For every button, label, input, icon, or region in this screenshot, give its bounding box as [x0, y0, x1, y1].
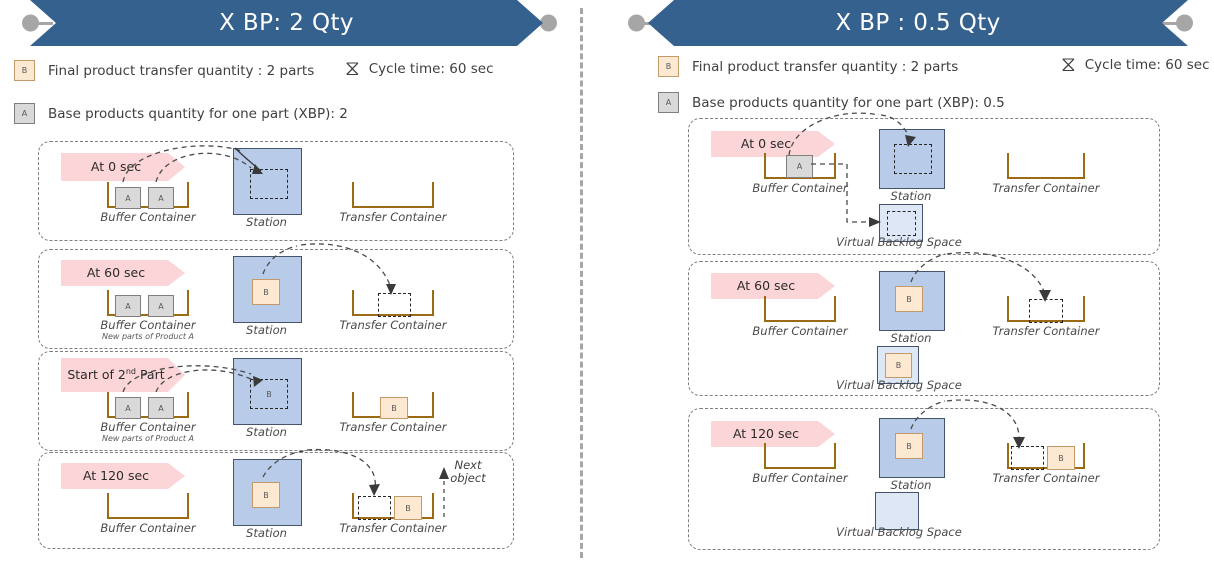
right-step-1-station: B — [879, 271, 945, 331]
part-b-chip-icon: B — [14, 60, 35, 81]
left-step-2-station-ghost-slot: B — [250, 379, 288, 409]
left-step-2-station-caption: Station — [229, 425, 304, 439]
right-step-0-buffer-caption: Buffer Container — [739, 181, 861, 195]
left-step-2-buffer-container: A A — [107, 392, 189, 418]
left-step-0-transfer-container — [352, 182, 434, 208]
left-step-0-station — [233, 148, 302, 215]
hourglass-icon: ⧖ — [345, 58, 360, 79]
left-step-3-transfer-container: B — [352, 493, 434, 519]
left-banner-wrap: X BP: 2 Qty — [0, 0, 580, 46]
left-step-3-station-part: B — [252, 482, 280, 508]
right-step-0-transfer-caption: Transfer Container — [982, 181, 1110, 195]
right-step-1-transfer-caption: Transfer Container — [982, 324, 1110, 338]
left-step-1-station: B — [233, 256, 302, 323]
left-step-3-buffer-caption: Buffer Container — [87, 521, 209, 535]
left-step-2-buffer-caption: Buffer Container — [87, 420, 209, 434]
right-legend-text-0: Final product transfer quantity : 2 part… — [692, 59, 958, 75]
left-step-3-transfer-part-0: B — [394, 496, 422, 520]
left-step-0-transfer-caption: Transfer Container — [329, 210, 457, 224]
right-step-card-0: At 0 sec A Buffer Container Station Virt… — [688, 118, 1160, 255]
left-step-1-buffer-container: A A — [107, 290, 189, 316]
left-step-0-buffer-part-0: A — [115, 187, 141, 209]
right-step-1-station-part: B — [895, 286, 923, 312]
right-step-0-buffer-part-0: A — [786, 155, 813, 178]
left-step-0-buffer-container: A A — [107, 182, 189, 208]
right-banner-left-knob — [628, 15, 645, 32]
left-step-card-0: At 0 sec A A Buffer Container Station Tr… — [38, 141, 514, 241]
left-step-3-time-label: At 120 sec — [61, 463, 185, 489]
right-step-2-transfer-part-0: B — [1047, 446, 1075, 470]
left-legend-text-1: Base products quantity for one part (XBP… — [48, 106, 348, 122]
left-step-2-buffer-subcaption: New parts of Product A — [87, 434, 209, 443]
right-step-0-backlog-caption: Virtual Backlog Space — [829, 235, 969, 249]
left-step-1-buffer-subcaption: New parts of Product A — [87, 332, 209, 341]
right-step-card-1: At 60 sec Buffer Container B Station B V… — [688, 261, 1160, 396]
right-cycle-time-text: Cycle time: 60 sec — [1085, 57, 1210, 73]
left-step-3-transfer-caption: Transfer Container — [329, 521, 457, 535]
left-step-0-station-ghost-slot — [250, 169, 288, 199]
right-legend-item-1: A Base products quantity for one part (X… — [658, 92, 1005, 113]
left-step-card-2: Start of 2nd Part A A Buffer Container N… — [38, 351, 514, 451]
right-cycle-time: ⧖ Cycle time: 60 sec — [1061, 54, 1210, 75]
left-step-0-time-label: At 0 sec — [61, 153, 185, 181]
right-step-2-transfer-caption: Transfer Container — [982, 471, 1110, 485]
left-step-1-station-caption: Station — [229, 323, 304, 337]
right-step-card-2: At 120 sec Buffer Container B Station Vi… — [688, 408, 1160, 550]
left-step-2-buffer-part-0: A — [115, 397, 141, 419]
hourglass-icon: ⧖ — [1061, 54, 1076, 75]
part-a-chip-icon: A — [14, 103, 35, 124]
left-step-3-station-caption: Station — [229, 526, 304, 540]
right-step-1-transfer-container — [1007, 296, 1085, 322]
right-step-1-backlog-caption: Virtual Backlog Space — [829, 378, 969, 392]
vertical-dashed-divider — [580, 8, 583, 558]
left-step-2-transfer-part-0: B — [380, 397, 408, 419]
right-step-2-station-part: B — [895, 433, 923, 459]
right-step-2-transfer-ghost-slot — [1011, 446, 1044, 470]
left-cycle-time: ⧖ Cycle time: 60 sec — [345, 58, 494, 79]
right-step-2-station: B — [879, 418, 945, 478]
right-step-2-station-caption: Station — [875, 478, 947, 492]
left-step-0-buffer-part-1: A — [148, 187, 174, 209]
left-cycle-time-text: Cycle time: 60 sec — [369, 61, 494, 77]
left-step-1-buffer-caption: Buffer Container — [87, 318, 209, 332]
left-step-3-buffer-container — [107, 493, 189, 519]
left-step-3-next-object-label: Nextobject — [439, 459, 497, 485]
right-step-0-station — [879, 129, 945, 189]
left-step-1-transfer-caption: Transfer Container — [329, 318, 457, 332]
left-step-1-time-label: At 60 sec — [61, 260, 185, 286]
right-step-0-buffer-container: A — [764, 153, 836, 179]
left-step-2-transfer-container: B — [352, 392, 434, 418]
left-banner-left-knob — [22, 15, 39, 32]
right-step-1-buffer-container — [764, 296, 836, 322]
left-step-1-buffer-part-1: A — [148, 295, 174, 317]
left-step-2-buffer-part-1: A — [148, 397, 174, 419]
part-a-chip-icon: A — [658, 92, 679, 113]
left-step-2-time-label-text: Start of 2nd Part — [67, 367, 164, 383]
left-legend-text-0: Final product transfer quantity : 2 part… — [48, 63, 314, 79]
right-step-1-transfer-ghost-slot — [1029, 299, 1063, 323]
left-step-2-transfer-caption: Transfer Container — [329, 420, 457, 434]
right-banner-title: X BP : 0.5 Qty — [648, 0, 1188, 46]
panel-x-bp-2-qty: X BP: 2 Qty B Final product transfer qua… — [0, 0, 580, 566]
panel-x-bp-0-5-qty: X BP : 0.5 Qty B Final product transfer … — [620, 0, 1214, 566]
left-step-1-buffer-part-0: A — [115, 295, 141, 317]
left-legend-item-0: B Final product transfer quantity : 2 pa… — [14, 60, 314, 81]
right-step-2-buffer-container — [764, 443, 836, 469]
left-legend-item-1: A Base products quantity for one part (X… — [14, 103, 348, 124]
right-step-1-backlog-part: B — [885, 353, 912, 378]
left-step-1-transfer-container — [352, 290, 434, 316]
right-step-0-station-ghost-slot — [894, 144, 932, 174]
left-step-0-station-caption: Station — [229, 215, 304, 229]
left-step-3-station: B — [233, 459, 302, 526]
right-step-0-station-caption: Station — [875, 189, 947, 203]
left-step-card-3: At 120 sec Buffer Container B Station B … — [38, 452, 514, 549]
right-step-1-buffer-caption: Buffer Container — [739, 324, 861, 338]
right-step-2-buffer-caption: Buffer Container — [739, 471, 861, 485]
right-step-0-backlog-ghost-slot — [887, 211, 916, 236]
left-step-1-transfer-ghost-slot — [378, 293, 411, 317]
right-banner-wrap: X BP : 0.5 Qty — [620, 0, 1214, 46]
left-step-card-1: At 60 sec A A Buffer Container New parts… — [38, 249, 514, 349]
right-step-2-backlog-caption: Virtual Backlog Space — [829, 525, 969, 539]
left-step-3-transfer-ghost-slot — [358, 496, 391, 520]
right-legend-item-0: B Final product transfer quantity : 2 pa… — [658, 56, 958, 77]
left-step-1-station-part: B — [252, 279, 280, 305]
left-step-2-station: B — [233, 358, 302, 425]
right-step-2-transfer-container: B — [1007, 443, 1085, 469]
left-step-2-time-label: Start of 2nd Part — [61, 358, 185, 392]
left-banner-title: X BP: 2 Qty — [30, 0, 543, 46]
right-legend-text-1: Base products quantity for one part (XBP… — [692, 95, 1005, 111]
left-step-0-buffer-caption: Buffer Container — [87, 210, 209, 224]
right-step-0-transfer-container — [1007, 153, 1085, 179]
part-b-chip-icon: B — [658, 56, 679, 77]
right-banner-right-knob — [1176, 15, 1193, 32]
right-step-1-station-caption: Station — [875, 331, 947, 345]
